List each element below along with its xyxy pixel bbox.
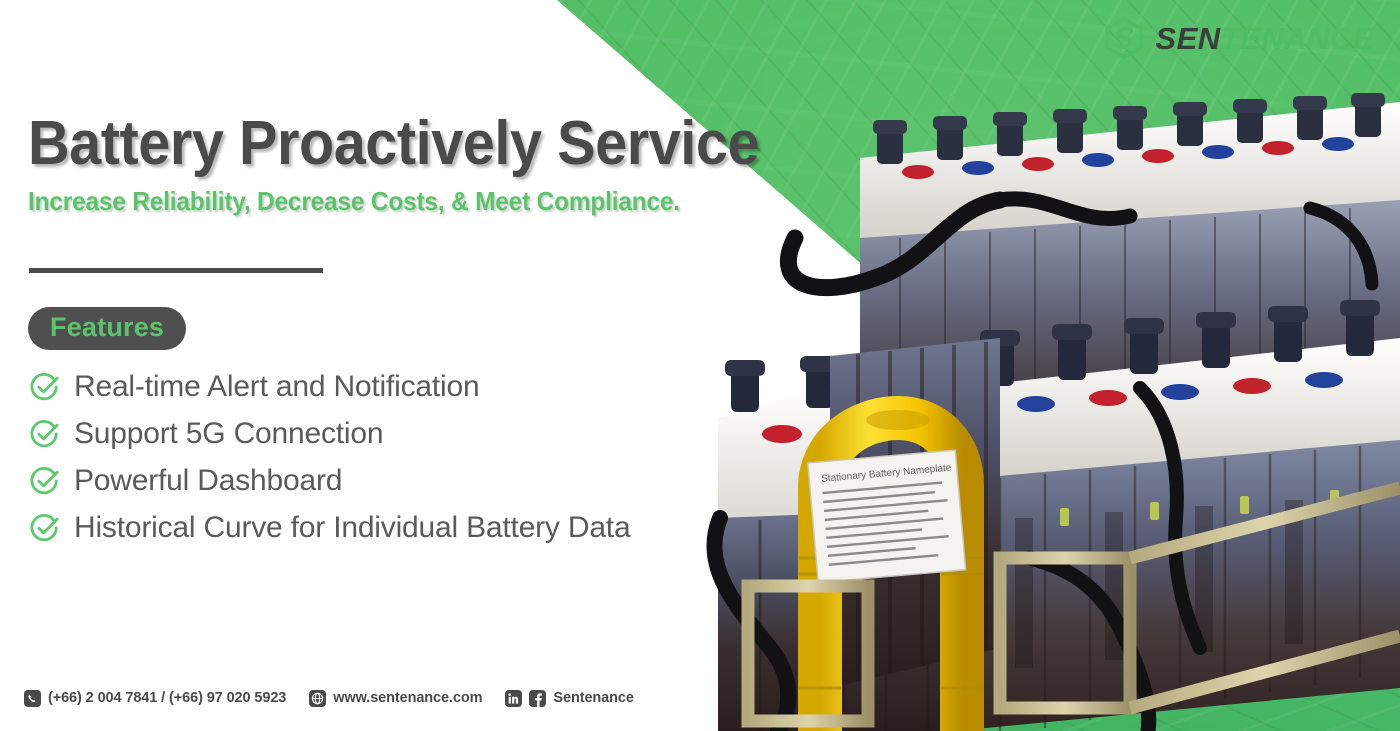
page-title: Battery Proactively Service [28,112,759,175]
battery-bank-photo: Stationary Battery Nameplate [700,88,1400,731]
feature-label: Real-time Alert and Notification [74,372,479,402]
facebook-icon[interactable] [529,690,546,707]
feature-label: Support 5G Connection [74,419,383,449]
website-url[interactable]: www.sentenance.com [333,691,482,706]
phone-number[interactable]: (+66) 2 004 7841 / (+66) 97 020 5923 [48,691,286,706]
contact-bar: (+66) 2 004 7841 / (+66) 97 020 5923 www… [24,690,634,707]
check-circle-icon [30,419,60,449]
list-item: Support 5G Connection [30,410,630,457]
features-list: Real-time Alert and Notification Support… [30,363,630,551]
check-circle-icon [30,513,60,543]
brand-logo[interactable]: SENTENANCE [1102,16,1374,60]
check-circle-icon [30,466,60,496]
check-circle-icon [30,372,60,402]
marketing-banner: Stationary Battery Nameplate [0,0,1400,731]
feature-label: Historical Curve for Individual Battery … [74,513,630,543]
feature-label: Powerful Dashboard [74,466,342,496]
divider [29,268,323,273]
brand-wordmark: SENTENANCE [1155,23,1374,54]
list-item: Powerful Dashboard [30,457,630,504]
list-item: Real-time Alert and Notification [30,363,630,410]
brand-wordmark-green: TENANCE [1221,21,1374,56]
hexagon-s-icon [1102,16,1146,60]
globe-icon [309,690,326,707]
social-handle[interactable]: Sentenance [553,691,633,706]
list-item: Historical Curve for Individual Battery … [30,504,630,551]
hero-content: Battery Proactively Service Increase Rel… [28,0,728,731]
battery-nameplate: Stationary Battery Nameplate [808,450,966,582]
brand-wordmark-dark: SEN [1155,21,1220,56]
phone-icon [24,690,41,707]
features-badge: Features [28,307,186,350]
page-subtitle: Increase Reliability, Decrease Costs, & … [28,186,680,217]
linkedin-icon[interactable] [505,690,522,707]
